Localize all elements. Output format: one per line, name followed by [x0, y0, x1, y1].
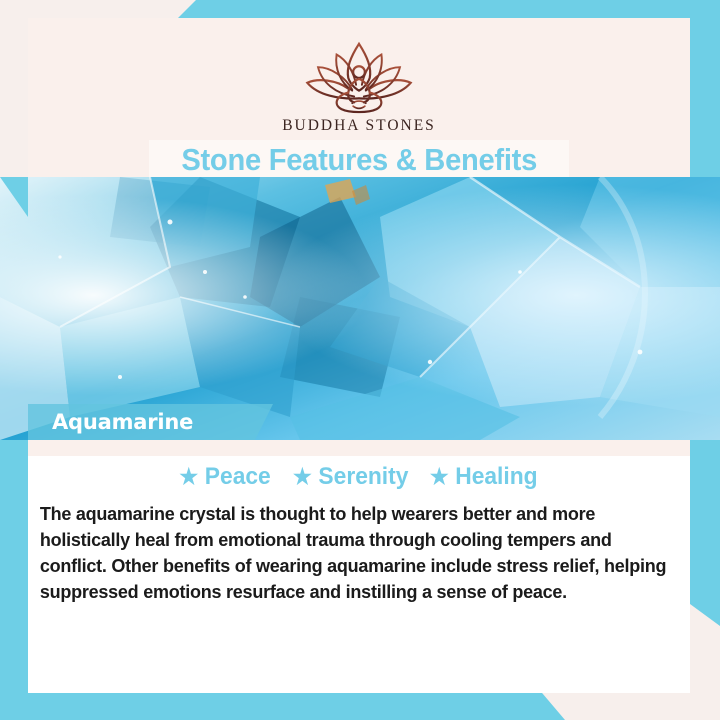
top-accent-band — [0, 0, 720, 18]
stone-name-label: Aquamarine — [28, 410, 193, 434]
keyword-label: Serenity — [318, 463, 408, 491]
keyword-label: Peace — [205, 463, 271, 491]
star-icon: ★ — [430, 466, 449, 488]
keyword-label: Healing — [455, 463, 537, 491]
description-paragraph: The aquamarine crystal is thought to hel… — [28, 501, 680, 605]
keyword-serenity: ★ Serenity — [293, 463, 408, 491]
brand-name: BUDDHA STONES — [282, 117, 436, 135]
poster-root: BUDDHA STONES Stone Features & Benefits — [0, 0, 720, 720]
brand-logo: BUDDHA STONES — [28, 36, 690, 135]
keyword-healing: ★ Healing — [430, 463, 538, 491]
lotus-meditation-icon — [284, 36, 434, 114]
title-plate: Stone Features & Benefits — [149, 140, 569, 180]
star-icon: ★ — [293, 466, 312, 488]
keyword-peace: ★ Peace — [180, 463, 271, 491]
stone-name-tag: Aquamarine — [28, 404, 273, 440]
aquamarine-crystal-image — [0, 177, 720, 440]
header-panel: BUDDHA STONES Stone Features & Benefits — [28, 18, 690, 177]
star-icon: ★ — [180, 466, 199, 488]
keyword-row: ★ Peace ★ Serenity ★ Healing — [28, 456, 690, 491]
stone-photo: Aquamarine — [0, 177, 720, 440]
content-panel: ★ Peace ★ Serenity ★ Healing The aquamar… — [28, 456, 690, 693]
page-title: Stone Features & Benefits — [181, 142, 537, 178]
divider-strip — [28, 440, 690, 456]
